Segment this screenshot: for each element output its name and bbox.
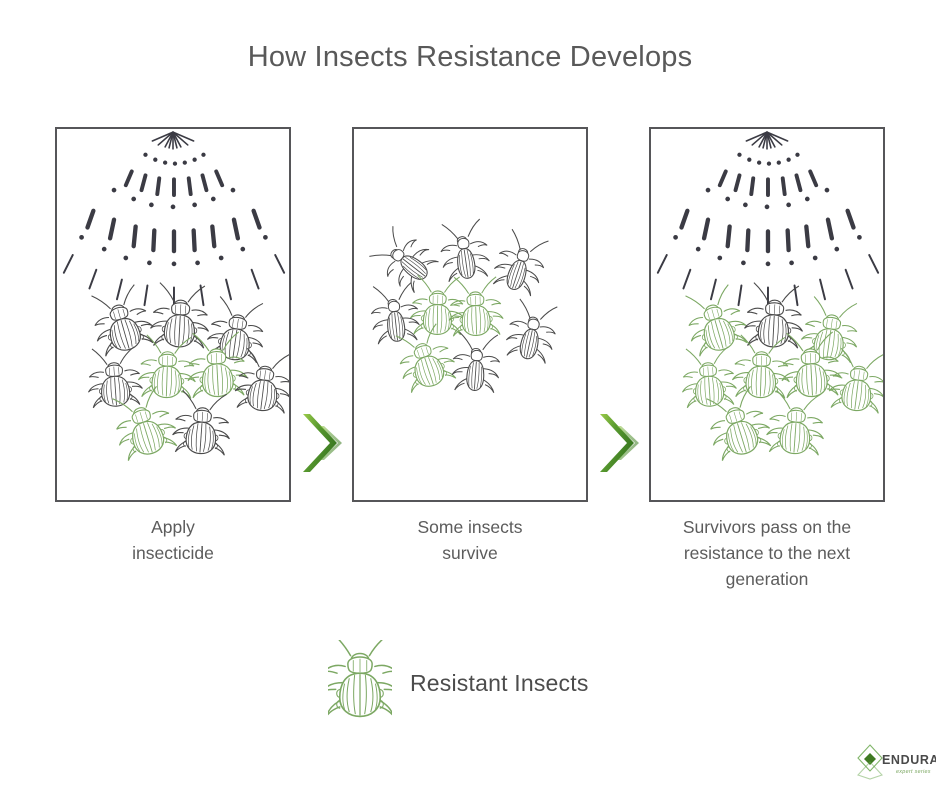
spray-pattern xyxy=(658,132,878,307)
panel-apply-insecticide xyxy=(55,127,291,502)
legend-label: Resistant Insects xyxy=(410,670,589,697)
panel-survivors-pass-on xyxy=(649,127,885,502)
panel-frame xyxy=(649,127,885,502)
brand-logo: ENDURA expert series xyxy=(852,742,936,782)
spray-pattern xyxy=(64,132,284,307)
green-beetle-icon xyxy=(328,640,392,726)
arrow-panel2-to-panel3 xyxy=(597,412,641,474)
panel-some-survive xyxy=(352,127,588,502)
arrow-panel1-to-panel2 xyxy=(300,412,344,474)
legend: Resistant Insects xyxy=(328,640,589,726)
panel-frame xyxy=(55,127,291,502)
panels-row xyxy=(0,127,940,502)
insect-colony xyxy=(85,282,289,462)
panel-illustration xyxy=(354,129,586,500)
brand-name: ENDURA xyxy=(882,753,936,767)
panel-captions: Apply insecticide Some insects survive S… xyxy=(0,514,940,604)
brand-tagline: expert series xyxy=(896,769,931,775)
page-title: How Insects Resistance Develops xyxy=(0,40,940,75)
panel-illustration xyxy=(651,129,883,500)
insect-colony xyxy=(679,282,883,462)
caption-apply-insecticide: Apply insecticide xyxy=(48,514,298,566)
panel-frame xyxy=(352,127,588,502)
caption-survivors-pass-on: Survivors pass on the resistance to the … xyxy=(642,514,892,592)
panel-illustration xyxy=(57,129,289,500)
insect-colony xyxy=(366,219,561,394)
caption-some-survive: Some insects survive xyxy=(345,514,595,566)
